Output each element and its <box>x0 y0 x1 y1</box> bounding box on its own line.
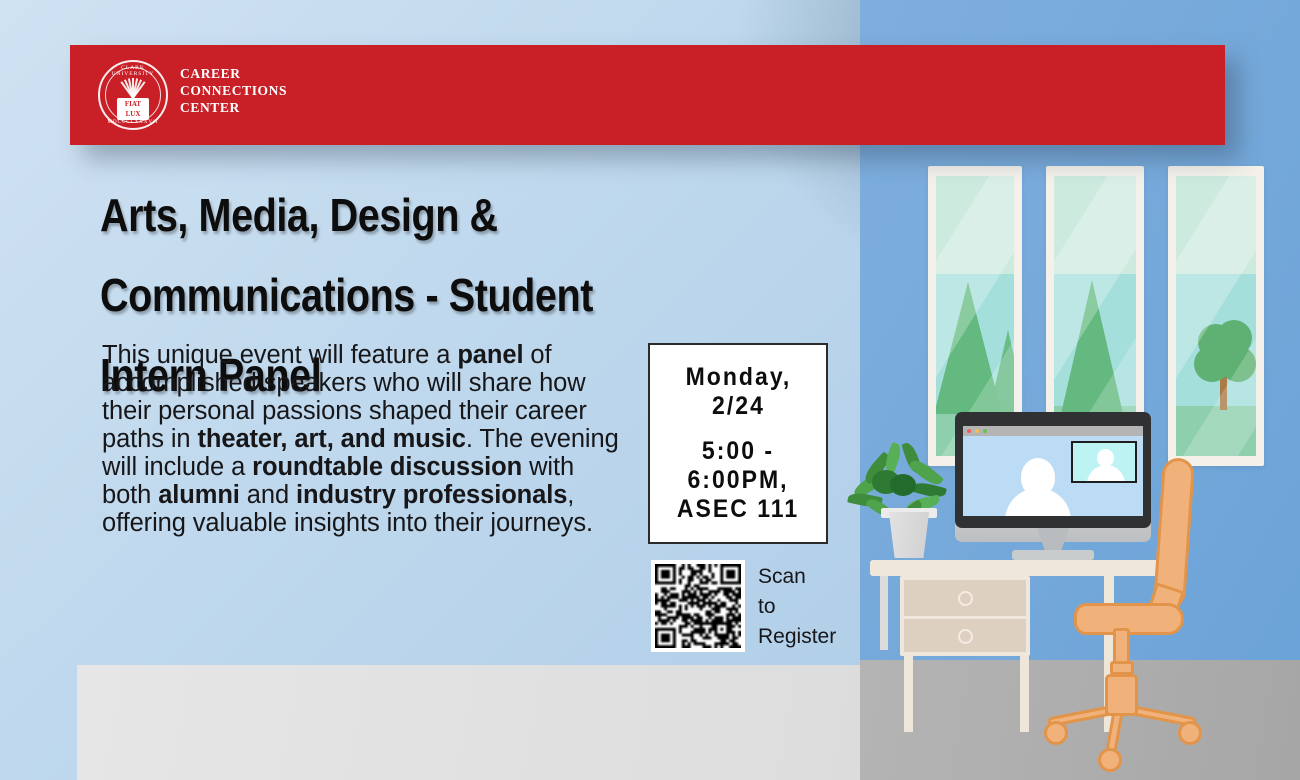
description-emphasis: roundtable discussion <box>252 453 522 481</box>
title-line-1: Arts, Media, Design & Communications - S… <box>100 175 788 335</box>
drawer-knob <box>958 629 973 644</box>
clark-university-seal-icon: CLARK UNIVERSITY FIAT LUX MDCCCLXXXVII <box>98 60 168 130</box>
event-date: 2/24 <box>685 392 791 421</box>
event-time-group: 5:00 - 6:00PM, ASEC 111 <box>650 437 826 524</box>
seal-top-text: CLARK UNIVERSITY <box>100 65 166 77</box>
event-details-box: Monday, 2/24 5:00 - 6:00PM, ASEC 111 <box>648 343 828 544</box>
event-location: ASEC 111 <box>657 495 819 524</box>
org-line-2: CONNECTIONS <box>180 82 287 99</box>
drawer-divider <box>904 616 1026 619</box>
chair-base-hub <box>1105 674 1138 716</box>
seal-bottom-text: MDCCCLXXXVII <box>100 120 166 125</box>
seal-book-icon: FIAT LUX <box>117 98 149 120</box>
event-date-group: Monday, 2/24 <box>681 363 796 421</box>
qr-caption-line-3: Register <box>758 622 836 652</box>
monitor-stand-base <box>1012 550 1094 560</box>
qr-code[interactable] <box>651 560 745 652</box>
window-right <box>1168 166 1264 466</box>
avatar-icon <box>1005 488 1071 516</box>
seal-book-line1: FIAT <box>117 99 149 109</box>
window-titlebar <box>963 426 1143 436</box>
seal-book-line2: LUX <box>117 109 149 119</box>
description-emphasis: alumni <box>158 481 240 509</box>
window-glass <box>1176 176 1256 456</box>
desk-leg <box>1020 656 1029 732</box>
video-call-screen <box>963 436 1143 516</box>
chair-caster <box>1098 748 1122 772</box>
qr-caption-line-1: Scan <box>758 562 836 592</box>
chair-post-collar <box>1110 661 1134 675</box>
chair-caster <box>1044 721 1068 745</box>
minimize-dot-icon <box>975 429 979 433</box>
event-day: Monday, <box>685 363 791 392</box>
org-line-3: CENTER <box>180 99 287 116</box>
chair-caster <box>1178 721 1202 745</box>
description-text: This unique event will feature a <box>102 341 457 369</box>
description-emphasis: panel <box>457 341 523 369</box>
glass-glare <box>1176 176 1256 456</box>
org-name: CAREER CONNECTIONS CENTER <box>180 65 287 116</box>
qr-caption: Scan to Register <box>758 562 836 652</box>
qr-code-canvas <box>655 564 741 648</box>
desk-leg <box>880 576 888 650</box>
drawer-knob <box>958 591 973 606</box>
description-emphasis: theater, art, and music <box>198 425 466 453</box>
header-banner: CLARK UNIVERSITY FIAT LUX MDCCCLXXXVII C… <box>70 45 1225 145</box>
avatar-icon <box>1087 465 1125 483</box>
qr-caption-line-2: to <box>758 592 836 622</box>
close-dot-icon <box>967 429 971 433</box>
desk-drawers <box>900 576 1030 656</box>
maximize-dot-icon <box>983 429 987 433</box>
monitor-bezel <box>955 412 1151 528</box>
plant-leaf <box>890 474 916 496</box>
description-text: and <box>240 481 296 509</box>
event-time: 5:00 - 6:00PM, <box>657 437 819 495</box>
picture-in-picture-tile <box>1071 441 1137 483</box>
desk-leg <box>904 656 913 732</box>
event-description: This unique event will feature a panel o… <box>102 341 627 537</box>
desk-surface <box>870 560 1160 576</box>
description-emphasis: industry professionals <box>296 481 567 509</box>
org-line-1: CAREER <box>180 65 287 82</box>
